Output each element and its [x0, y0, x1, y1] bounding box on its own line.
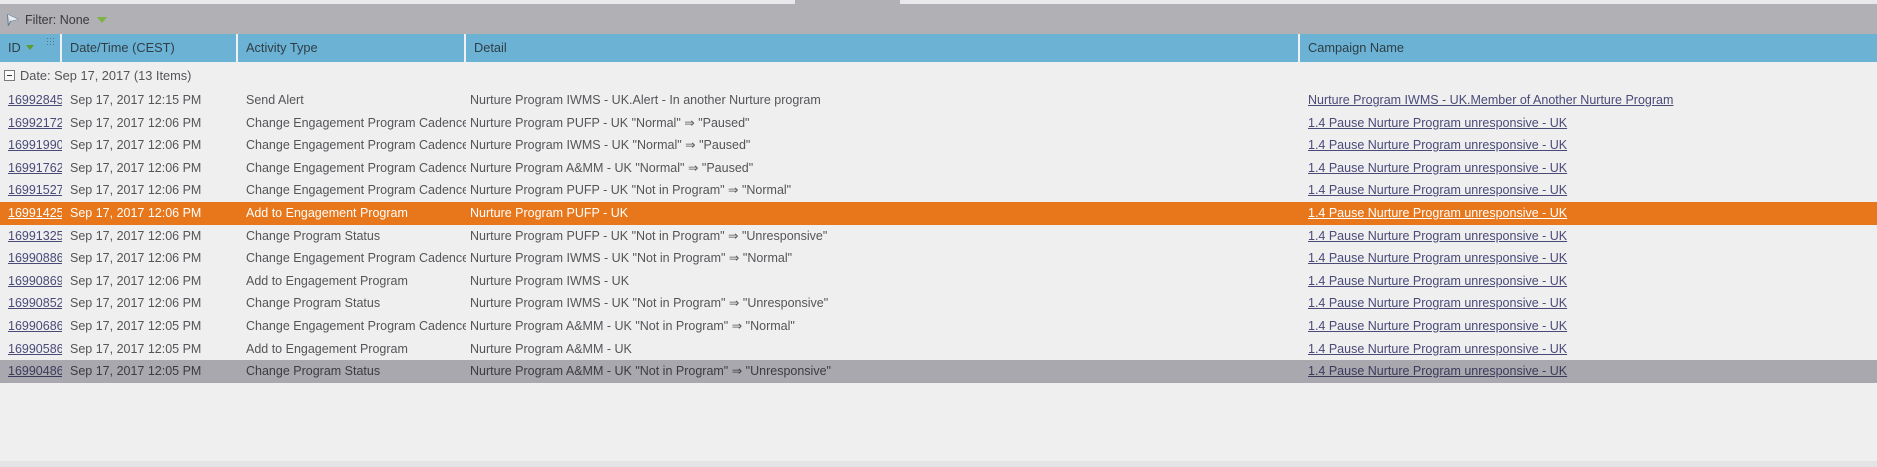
cell-datetime: Sep 17, 2017 12:15 PM [62, 89, 238, 112]
column-header-date[interactable]: Date/Time (CEST) [62, 34, 238, 62]
column-header-activity-type[interactable]: Activity Type [238, 34, 466, 62]
column-header-detail[interactable]: Detail [466, 34, 1300, 62]
cell-campaign: 1.4 Pause Nurture Program unresponsive -… [1300, 292, 1877, 315]
cell-activity-type: Send Alert [238, 89, 466, 112]
grid-header-row: ID Date/Time (CEST) Activity Type Detail… [0, 34, 1877, 62]
table-row[interactable]: 169919902Sep 17, 2017 12:06 PMChange Eng… [0, 134, 1877, 157]
campaign-name-link[interactable]: 1.4 Pause Nurture Program unresponsive -… [1308, 342, 1567, 356]
cell-campaign: 1.4 Pause Nurture Program unresponsive -… [1300, 270, 1877, 293]
column-resize-grip[interactable] [47, 38, 56, 47]
activity-id-link[interactable]: 169906860 [8, 319, 62, 333]
campaign-name-link[interactable]: 1.4 Pause Nurture Program unresponsive -… [1308, 229, 1567, 243]
campaign-name-link[interactable]: 1.4 Pause Nurture Program unresponsive -… [1308, 364, 1567, 378]
cell-detail: Nurture Program IWMS - UK [466, 270, 1300, 293]
cell-campaign: 1.4 Pause Nurture Program unresponsive -… [1300, 134, 1877, 157]
cell-campaign: 1.4 Pause Nurture Program unresponsive -… [1300, 225, 1877, 248]
cell-detail: Nurture Program PUFP - UK [466, 202, 1300, 225]
campaign-name-link[interactable]: 1.4 Pause Nurture Program unresponsive -… [1308, 183, 1567, 197]
cell-datetime: Sep 17, 2017 12:06 PM [62, 247, 238, 270]
cell-activity-type: Add to Engagement Program [238, 338, 466, 361]
cell-datetime: Sep 17, 2017 12:06 PM [62, 202, 238, 225]
cell-id: 169908694 [0, 270, 62, 293]
activity-id-link[interactable]: 169917626 [8, 161, 62, 175]
cell-id: 169919902 [0, 134, 62, 157]
cell-campaign: 1.4 Pause Nurture Program unresponsive -… [1300, 202, 1877, 225]
cell-id: 169913257 [0, 225, 62, 248]
collapse-minus-icon[interactable] [4, 70, 15, 81]
sort-desc-arrow-icon[interactable] [26, 45, 34, 50]
campaign-name-link[interactable]: 1.4 Pause Nurture Program unresponsive -… [1308, 274, 1567, 288]
activity-id-link[interactable]: 169913257 [8, 229, 62, 243]
cell-detail: Nurture Program IWMS - UK.Alert - In ano… [466, 89, 1300, 112]
activity-id-link[interactable]: 169915274 [8, 183, 62, 197]
cell-campaign: Nurture Program IWMS - UK.Member of Anot… [1300, 89, 1877, 112]
cell-id: 169915274 [0, 179, 62, 202]
cell-id: 169904860 [0, 360, 62, 383]
cell-campaign: 1.4 Pause Nurture Program unresponsive -… [1300, 247, 1877, 270]
cell-detail: Nurture Program PUFP - UK "Not in Progra… [466, 225, 1300, 248]
cell-activity-type: Change Engagement Program Cadence [238, 179, 466, 202]
campaign-name-link[interactable]: 1.4 Pause Nurture Program unresponsive -… [1308, 138, 1567, 152]
grid-toolbar: Filter: None [0, 6, 1877, 34]
table-row[interactable]: 169915274Sep 17, 2017 12:06 PMChange Eng… [0, 179, 1877, 202]
cell-detail: Nurture Program IWMS - UK "Normal" ⇒ "Pa… [466, 134, 1300, 157]
cell-id: 169928456 [0, 89, 62, 112]
cell-datetime: Sep 17, 2017 12:05 PM [62, 360, 238, 383]
top-strip-segment-left [0, 0, 795, 4]
cell-detail: Nurture Program A&MM - UK "Not in Progra… [466, 360, 1300, 383]
cell-activity-type: Change Engagement Program Cadence [238, 247, 466, 270]
group-header-label: Date: Sep 17, 2017 (13 Items) [20, 68, 191, 83]
table-row[interactable]: 169905860Sep 17, 2017 12:05 PMAdd to Eng… [0, 338, 1877, 361]
activity-log-grid-window: Filter: None ID Date/Time (CEST) Activit… [0, 0, 1877, 467]
table-row[interactable]: 169928456Sep 17, 2017 12:15 PMSend Alert… [0, 89, 1877, 112]
cell-datetime: Sep 17, 2017 12:06 PM [62, 134, 238, 157]
cell-datetime: Sep 17, 2017 12:06 PM [62, 179, 238, 202]
column-header-id[interactable]: ID [0, 34, 62, 62]
cell-detail: Nurture Program PUFP - UK "Normal" ⇒ "Pa… [466, 112, 1300, 135]
cell-id: 169905860 [0, 338, 62, 361]
campaign-name-link[interactable]: 1.4 Pause Nurture Program unresponsive -… [1308, 161, 1567, 175]
filter-label: Filter: None [25, 13, 90, 27]
cell-id: 169908527 [0, 292, 62, 315]
campaign-name-link[interactable]: 1.4 Pause Nurture Program unresponsive -… [1308, 319, 1567, 333]
table-row[interactable]: 169921724Sep 17, 2017 12:06 PMChange Eng… [0, 112, 1877, 135]
cell-datetime: Sep 17, 2017 12:06 PM [62, 270, 238, 293]
cell-campaign: 1.4 Pause Nurture Program unresponsive -… [1300, 179, 1877, 202]
table-row[interactable]: 169913257Sep 17, 2017 12:06 PMChange Pro… [0, 225, 1877, 248]
cell-detail: Nurture Program A&MM - UK "Normal" ⇒ "Pa… [466, 157, 1300, 180]
funnel-icon [6, 13, 20, 27]
grid-rows-container: 169928456Sep 17, 2017 12:15 PMSend Alert… [0, 89, 1877, 383]
activity-id-link[interactable]: 169908527 [8, 296, 62, 310]
campaign-name-link[interactable]: 1.4 Pause Nurture Program unresponsive -… [1308, 296, 1567, 310]
cell-detail: Nurture Program IWMS - UK "Not in Progra… [466, 247, 1300, 270]
table-row[interactable]: 169908867Sep 17, 2017 12:06 PMChange Eng… [0, 247, 1877, 270]
cell-datetime: Sep 17, 2017 12:06 PM [62, 292, 238, 315]
group-header-row[interactable]: Date: Sep 17, 2017 (13 Items) [0, 62, 1877, 89]
campaign-name-link[interactable]: 1.4 Pause Nurture Program unresponsive -… [1308, 251, 1567, 265]
cell-campaign: 1.4 Pause Nurture Program unresponsive -… [1300, 157, 1877, 180]
activity-id-link[interactable]: 169921724 [8, 116, 62, 130]
cell-activity-type: Change Program Status [238, 360, 466, 383]
activity-id-link[interactable]: 169928456 [8, 93, 62, 107]
cell-activity-type: Change Engagement Program Cadence [238, 315, 466, 338]
top-strip-segment-right [900, 0, 1877, 4]
cell-activity-type: Change Engagement Program Cadence [238, 134, 466, 157]
cell-datetime: Sep 17, 2017 12:06 PM [62, 225, 238, 248]
table-row[interactable]: 169908527Sep 17, 2017 12:06 PMChange Pro… [0, 292, 1877, 315]
cell-datetime: Sep 17, 2017 12:06 PM [62, 157, 238, 180]
cell-detail: Nurture Program IWMS - UK "Not in Progra… [466, 292, 1300, 315]
cell-activity-type: Add to Engagement Program [238, 270, 466, 293]
cell-id: 169921724 [0, 112, 62, 135]
activity-id-link[interactable]: 169905860 [8, 342, 62, 356]
cell-activity-type: Change Engagement Program Cadence [238, 157, 466, 180]
grid-body: Date: Sep 17, 2017 (13 Items) 169928456S… [0, 62, 1877, 461]
cell-campaign: 1.4 Pause Nurture Program unresponsive -… [1300, 315, 1877, 338]
activity-id-link[interactable]: 169908867 [8, 251, 62, 265]
cell-campaign: 1.4 Pause Nurture Program unresponsive -… [1300, 338, 1877, 361]
cell-detail: Nurture Program A&MM - UK "Not in Progra… [466, 315, 1300, 338]
activity-id-link[interactable]: 169914257 [8, 206, 62, 220]
cell-activity-type: Change Engagement Program Cadence [238, 112, 466, 135]
column-header-campaign-name[interactable]: Campaign Name [1300, 34, 1877, 62]
cell-datetime: Sep 17, 2017 12:05 PM [62, 315, 238, 338]
bottom-cutoff-strip [0, 461, 1877, 467]
cell-campaign: 1.4 Pause Nurture Program unresponsive -… [1300, 360, 1877, 383]
column-header-id-label: ID [8, 40, 21, 55]
table-row[interactable]: 169917626Sep 17, 2017 12:06 PMChange Eng… [0, 157, 1877, 180]
table-row[interactable]: 169914257Sep 17, 2017 12:06 PMAdd to Eng… [0, 202, 1877, 225]
activity-id-link[interactable]: 169919902 [8, 138, 62, 152]
cell-id: 169906860 [0, 315, 62, 338]
cell-datetime: Sep 17, 2017 12:06 PM [62, 112, 238, 135]
cell-detail: Nurture Program A&MM - UK [466, 338, 1300, 361]
table-row[interactable]: 169904860Sep 17, 2017 12:05 PMChange Pro… [0, 360, 1877, 383]
caret-down-icon[interactable] [97, 17, 107, 23]
cell-detail: Nurture Program PUFP - UK "Not in Progra… [466, 179, 1300, 202]
activity-id-link[interactable]: 169904860 [8, 364, 62, 378]
cell-activity-type: Change Program Status [238, 292, 466, 315]
cell-activity-type: Change Program Status [238, 225, 466, 248]
cell-id: 169914257 [0, 202, 62, 225]
campaign-name-link[interactable]: 1.4 Pause Nurture Program unresponsive -… [1308, 116, 1567, 130]
campaign-name-link[interactable]: 1.4 Pause Nurture Program unresponsive -… [1308, 206, 1567, 220]
cell-id: 169917626 [0, 157, 62, 180]
cell-id: 169908867 [0, 247, 62, 270]
cell-campaign: 1.4 Pause Nurture Program unresponsive -… [1300, 112, 1877, 135]
cell-datetime: Sep 17, 2017 12:05 PM [62, 338, 238, 361]
table-row[interactable]: 169906860Sep 17, 2017 12:05 PMChange Eng… [0, 315, 1877, 338]
cell-activity-type: Add to Engagement Program [238, 202, 466, 225]
filter-control[interactable]: Filter: None [6, 11, 107, 29]
campaign-name-link[interactable]: Nurture Program IWMS - UK.Member of Anot… [1308, 93, 1673, 107]
activity-id-link[interactable]: 169908694 [8, 274, 62, 288]
table-row[interactable]: 169908694Sep 17, 2017 12:06 PMAdd to Eng… [0, 270, 1877, 293]
